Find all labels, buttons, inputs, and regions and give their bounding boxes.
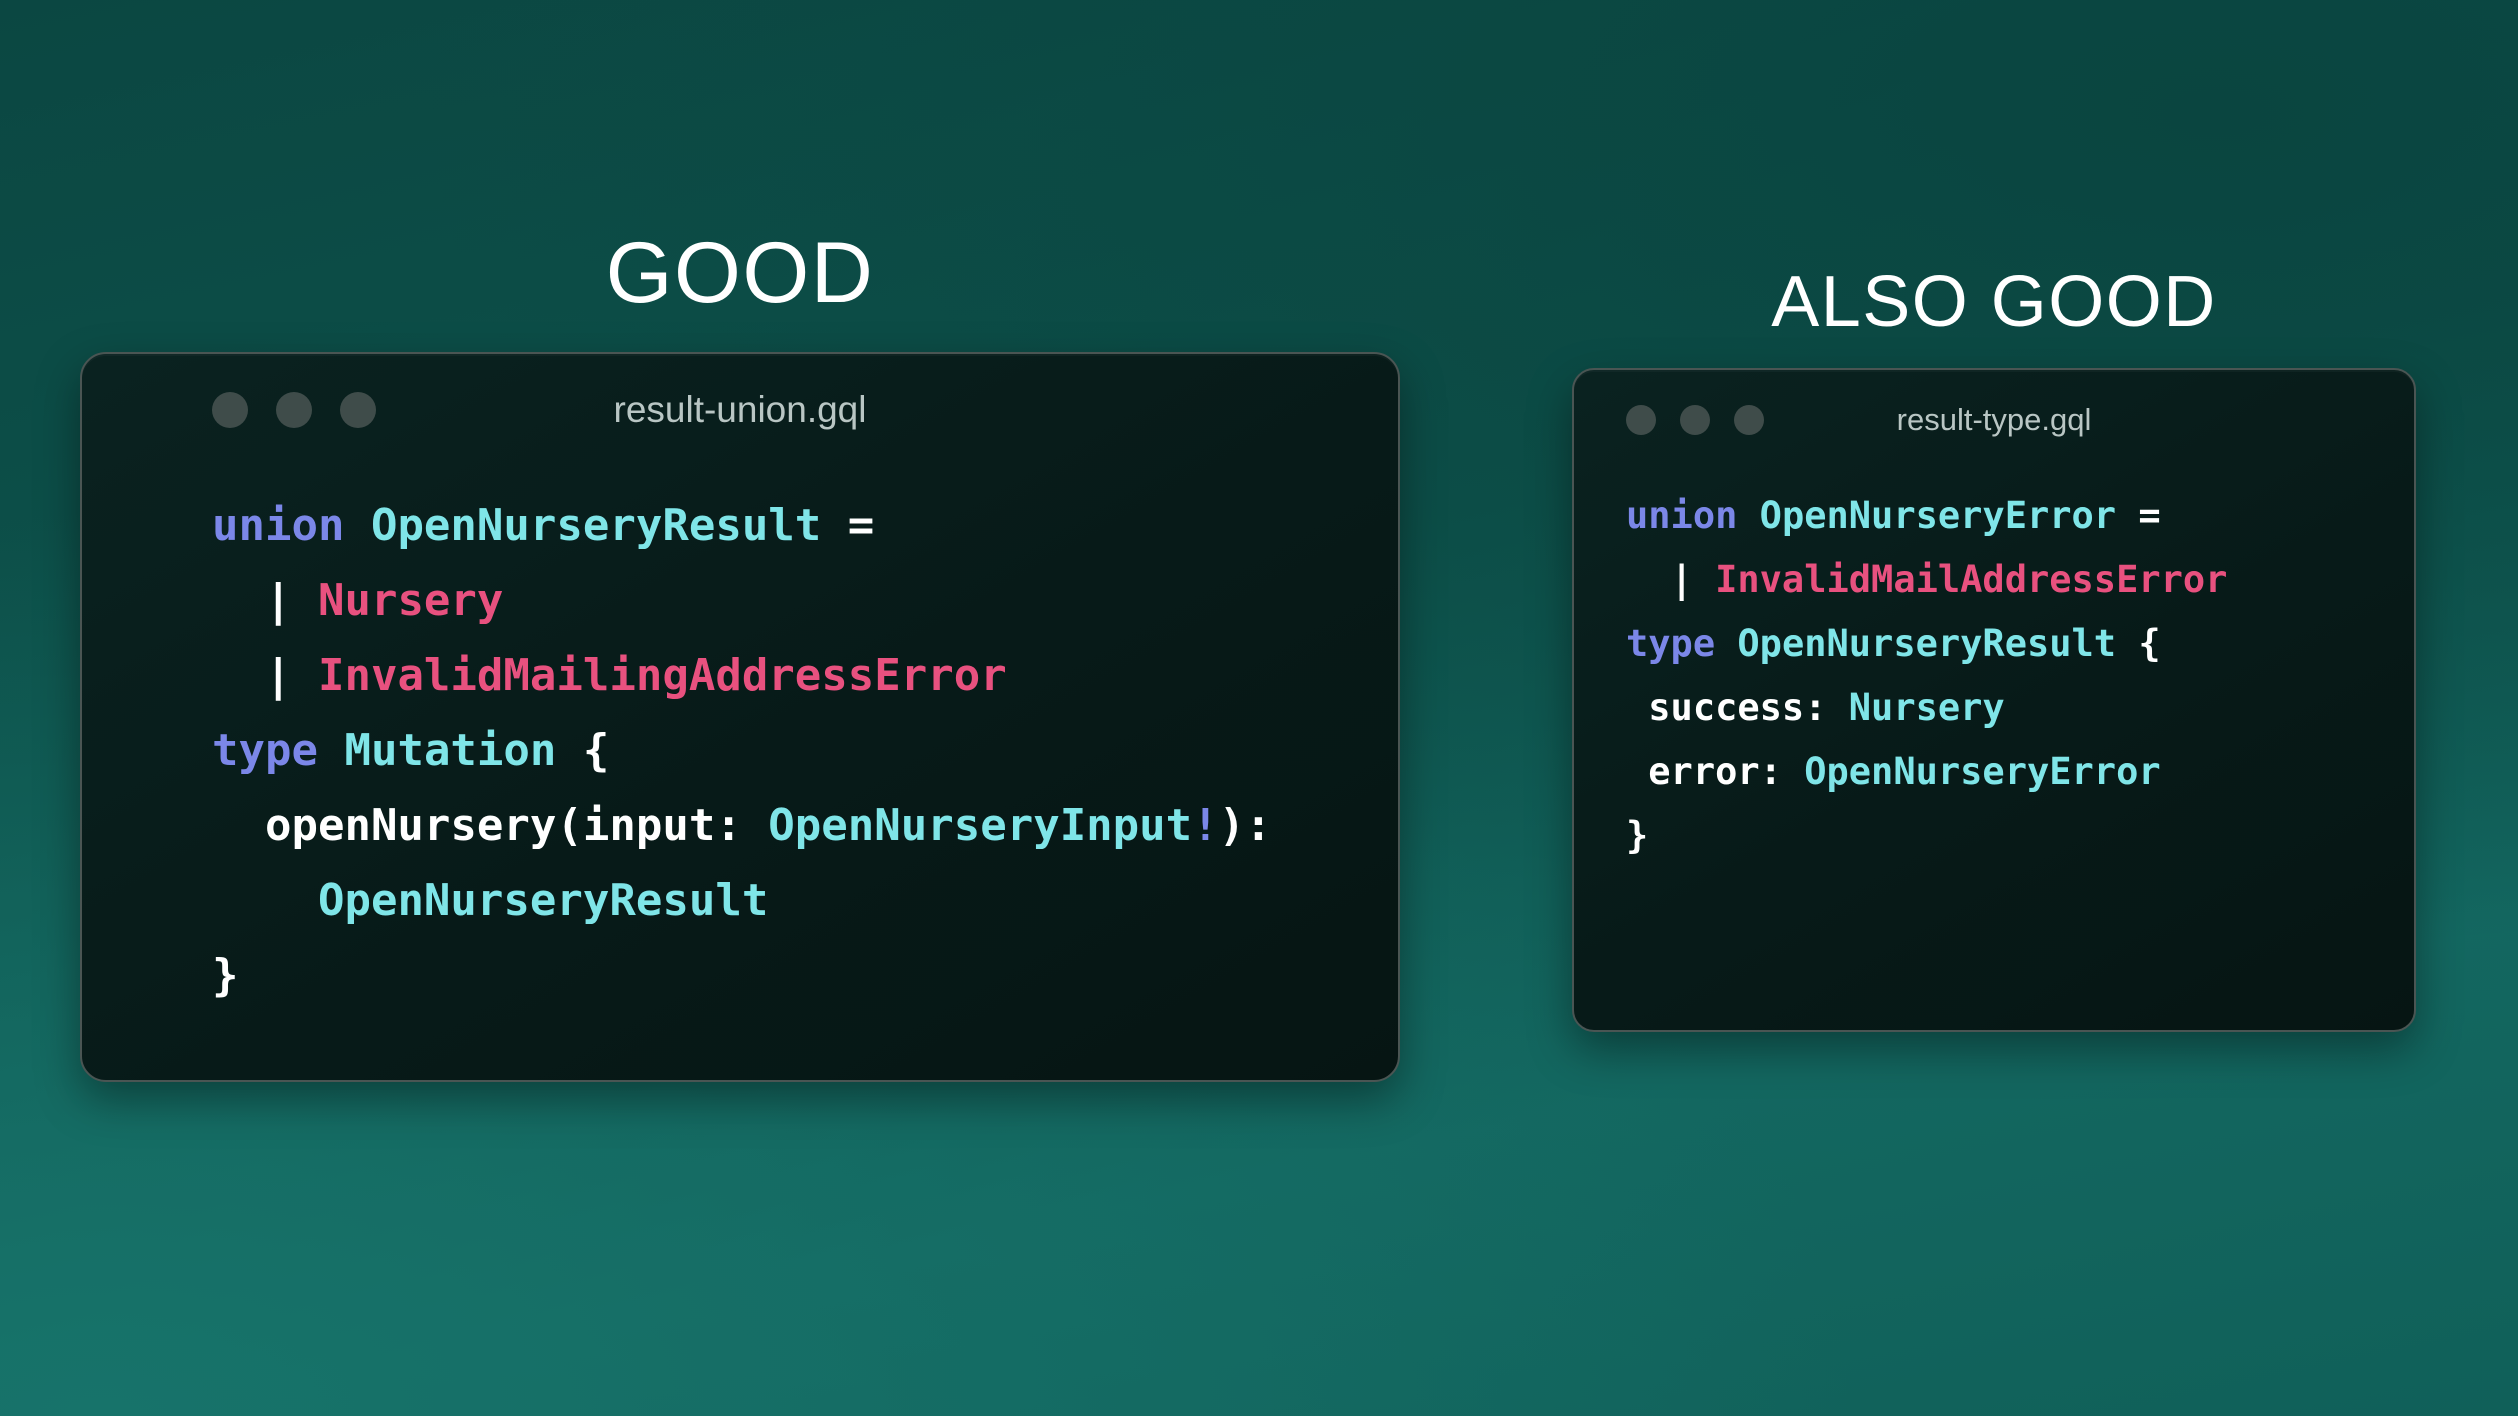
code-token-type: OpenNurseryError (1760, 494, 2116, 537)
close-dot-icon[interactable] (212, 392, 248, 428)
code-token-plain (212, 875, 318, 926)
code-line: type OpenNurseryResult { (1626, 612, 2414, 676)
code-token-plain: { (556, 725, 609, 776)
minimize-dot-icon[interactable] (1680, 405, 1710, 435)
code-token-type: OpenNurseryError (1804, 750, 2160, 793)
code-block-result-type: union OpenNurseryError = | InvalidMailAd… (1574, 470, 2414, 868)
code-window-titlebar: result-type.gql (1574, 370, 2414, 470)
code-token-type: OpenNurseryResult (1737, 622, 2116, 665)
code-token-type: OpenNurseryResult (371, 500, 821, 551)
code-token-keyword: type (1626, 622, 1715, 665)
code-token-plain (1715, 622, 1737, 665)
code-block-result-union: union OpenNurseryResult = | Nursery | In… (82, 466, 1398, 1013)
code-token-plain: | (212, 575, 318, 626)
panel-heading-also-good: ALSO GOOD (1572, 266, 2416, 338)
panel-also-good: ALSO GOOD result-type.gql union OpenNurs… (1572, 266, 2416, 1032)
code-line: | Nursery (212, 563, 1398, 638)
code-line: openNursery(input: OpenNurseryInput!): (212, 788, 1398, 863)
code-token-plain: ): (1219, 800, 1272, 851)
code-token-plain: { (2116, 622, 2161, 665)
close-dot-icon[interactable] (1626, 405, 1656, 435)
code-line: union OpenNurseryError = (1626, 484, 2414, 548)
code-line: | InvalidMailAddressError (1626, 548, 2414, 612)
code-token-plain (344, 500, 371, 551)
panel-good: GOOD result-union.gql union OpenNurseryR… (80, 230, 1400, 1082)
code-line: type Mutation { (212, 713, 1398, 788)
panel-heading-good: GOOD (80, 230, 1400, 316)
code-token-error_type: Nursery (318, 575, 503, 626)
code-token-type: OpenNurseryResult (318, 875, 768, 926)
window-controls (1626, 405, 1764, 435)
code-token-plain (318, 725, 345, 776)
code-token-plain: = (821, 500, 900, 551)
code-window-result-union: result-union.gql union OpenNurseryResult… (80, 352, 1400, 1082)
code-line: union OpenNurseryResult = (212, 488, 1398, 563)
code-token-keyword: union (212, 500, 344, 551)
code-token-plain: | (212, 650, 318, 701)
maximize-dot-icon[interactable] (340, 392, 376, 428)
code-token-type: Nursery (1849, 686, 2005, 729)
maximize-dot-icon[interactable] (1734, 405, 1764, 435)
code-token-plain (1737, 494, 1759, 537)
code-token-plain: = (2116, 494, 2183, 537)
code-token-error_type: InvalidMailingAddressError (318, 650, 1007, 701)
code-token-type: OpenNurseryInput (768, 800, 1192, 851)
code-token-plain: } (1626, 814, 1648, 857)
slide-canvas: GOOD result-union.gql union OpenNurseryR… (0, 0, 2518, 1416)
code-line: OpenNurseryResult (212, 863, 1398, 938)
code-line: error: OpenNurseryError (1626, 740, 2414, 804)
window-controls (212, 392, 376, 428)
code-line: } (1626, 804, 2414, 868)
code-token-type: Mutation (344, 725, 556, 776)
code-token-plain: error: (1626, 750, 1804, 793)
code-token-keyword: type (212, 725, 318, 776)
code-token-plain: } (212, 950, 239, 1001)
code-window-titlebar: result-union.gql (82, 354, 1398, 466)
code-token-error_type: InvalidMailAddressError (1715, 558, 2227, 601)
code-token-keyword: union (1626, 494, 1737, 537)
code-token-plain: openNursery(input: (212, 800, 768, 851)
code-line: success: Nursery (1626, 676, 2414, 740)
code-window-result-type: result-type.gql union OpenNurseryError =… (1572, 368, 2416, 1032)
code-line: | InvalidMailingAddressError (212, 638, 1398, 713)
code-token-plain: | (1626, 558, 1715, 601)
code-token-keyword: ! (1192, 800, 1219, 851)
code-line: } (212, 938, 1398, 1013)
code-token-plain: success: (1626, 686, 1849, 729)
minimize-dot-icon[interactable] (276, 392, 312, 428)
